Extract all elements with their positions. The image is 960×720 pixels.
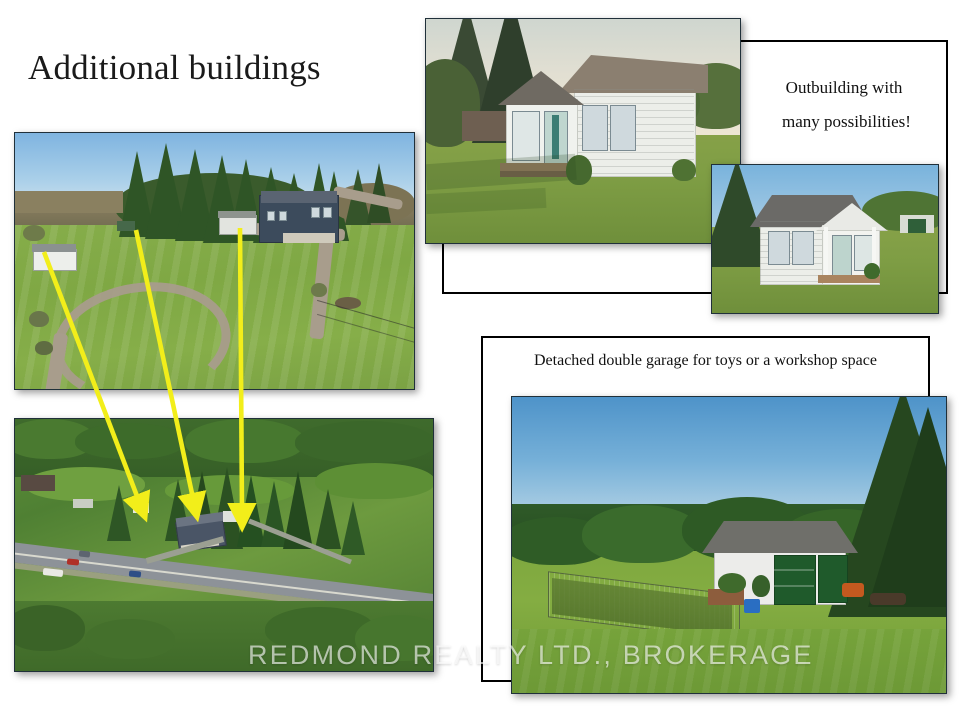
cottage2-window — [792, 231, 814, 265]
aerial-outbuilding — [219, 215, 257, 235]
aerial-white-house — [33, 249, 77, 271]
outbuilding-callout-line1: Outbuilding with — [744, 78, 944, 98]
watermark: REDMOND REALTY LTD., BROKERAGE — [248, 640, 814, 671]
cottage2-door — [832, 235, 852, 277]
aerial2-garage — [223, 511, 241, 522]
cottage-window — [610, 105, 636, 151]
page-title: Additional buildings — [28, 48, 321, 88]
photo-outbuilding-front-right — [711, 164, 939, 314]
photo-outbuilding-front-left — [425, 18, 741, 244]
garage-door-left — [774, 555, 816, 605]
photo-aerial-property-overview — [14, 132, 415, 390]
outbuilding-callout-line2: many possibilities! — [739, 112, 954, 132]
cottage-window — [582, 105, 608, 151]
aerial2-outbuilding — [133, 503, 149, 513]
slide-canvas: Additional buildings Outbuilding with ma… — [0, 0, 960, 720]
photo-aerial-wide-roadside — [14, 418, 434, 672]
cottage-porch-window — [512, 111, 540, 161]
cottage2-window — [768, 231, 790, 265]
garage-callout-line1: Detached double garage for toys or a wor… — [483, 352, 928, 370]
